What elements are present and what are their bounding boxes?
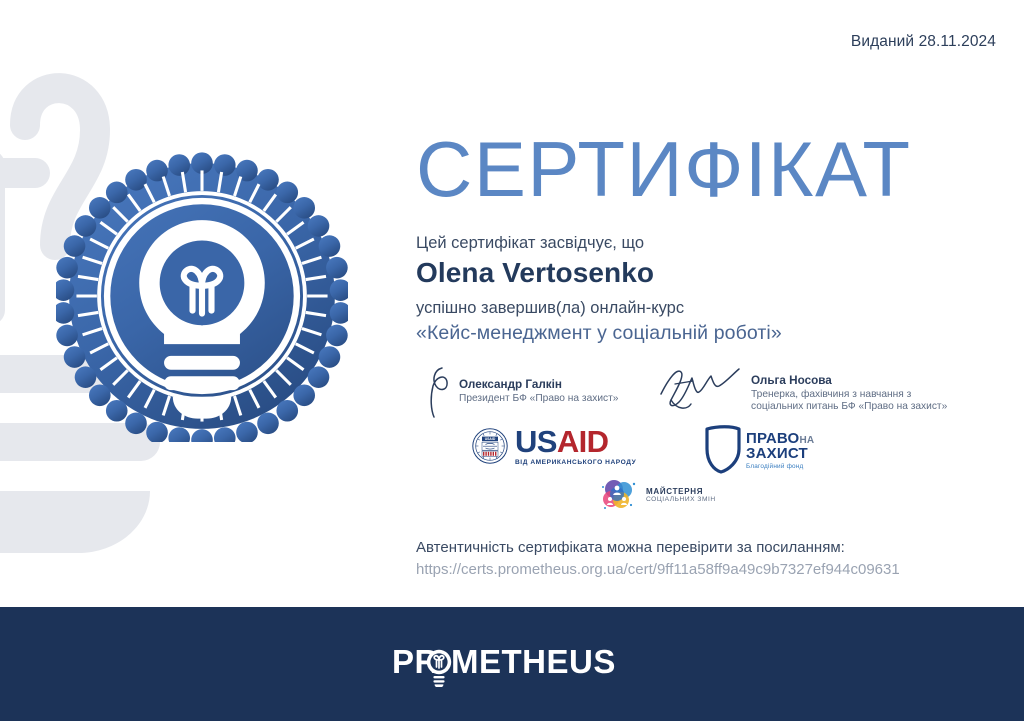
prometheus-logo: PR METHEUS bbox=[392, 641, 632, 687]
signature-name: Олександр Галкін bbox=[459, 378, 618, 393]
recipient-name: Olena Vertosenko bbox=[416, 256, 1012, 290]
signature-role-line-1: Президент БФ «Право на захист» bbox=[459, 393, 618, 405]
verification-label: Автентичність сертифіката можна перевіри… bbox=[416, 537, 1016, 559]
maysternya-logo: МАЙСТЕРНЯ СОЦІАЛЬНИХ ЗМІН bbox=[600, 478, 716, 512]
completion-line: успішно завершив(ла) онлайн-курс bbox=[416, 297, 1012, 319]
intro-line: Цей сертифікат засвідчує, що bbox=[416, 232, 1012, 254]
usaid-tagline: ВІД АМЕРИКАНСЬКОГО НАРОДУ bbox=[515, 459, 636, 466]
maysternya-mark-icon bbox=[600, 478, 640, 512]
pnz-line2: ЗАХИСТ bbox=[746, 446, 814, 461]
partner-logos: USAID USAID ВІД АМЕРИКАНСЬКОГО НАРОДУ bbox=[412, 424, 1012, 522]
signature-role-line-2: соціальних питань БФ «Право на захист» bbox=[751, 401, 947, 413]
pnz-line3: Благодійний фонд bbox=[746, 463, 814, 470]
issued-date: Виданий 28.11.2024 bbox=[851, 33, 996, 51]
signature-scribble-icon bbox=[655, 364, 745, 414]
usaid-word-aid: AID bbox=[557, 424, 609, 459]
pravo-na-zahyst-logo: ПРАВОНА ЗАХИСТ Благодійний фонд bbox=[702, 424, 814, 474]
usaid-logo: USAID USAID ВІД АМЕРИКАНСЬКОГО НАРОДУ bbox=[472, 426, 636, 466]
page-title: СЕРТИФІКАТ bbox=[416, 132, 1012, 206]
maysternya-line1: МАЙСТЕРНЯ bbox=[646, 487, 716, 496]
svg-text:USAID: USAID bbox=[485, 437, 496, 441]
verification-url[interactable]: https://certs.prometheus.org.ua/cert/9ff… bbox=[416, 559, 1016, 581]
prometheus-bulb-icon bbox=[427, 650, 451, 687]
signatures-block: Олександр Галкін Президент БФ «Право на … bbox=[412, 366, 1012, 422]
certificate-seal-icon bbox=[56, 150, 348, 442]
certificate-body: СЕРТИФІКАТ Цей сертифікат засвідчує, що … bbox=[412, 132, 1012, 347]
usaid-word-us: US bbox=[515, 424, 557, 459]
signature-name: Ольга Носова bbox=[751, 374, 947, 389]
prometheus-wordmark-part2: METHEUS bbox=[451, 643, 616, 680]
footer-bar: PR METHEUS bbox=[0, 607, 1024, 721]
maysternya-line2: СОЦІАЛЬНИХ ЗМІН bbox=[646, 496, 716, 504]
signature-role-line-1: Тренерка, фахівчиня з навчання з bbox=[751, 389, 947, 401]
course-name: «Кейс-менеджмент у соціальній роботі» bbox=[416, 321, 1012, 346]
verification-block: Автентичність сертифіката можна перевіри… bbox=[416, 537, 1016, 581]
certificate-canvas: Виданий 28.11.2024 bbox=[0, 0, 1024, 721]
usaid-seal-icon: USAID bbox=[472, 428, 508, 464]
shield-icon bbox=[702, 424, 742, 474]
